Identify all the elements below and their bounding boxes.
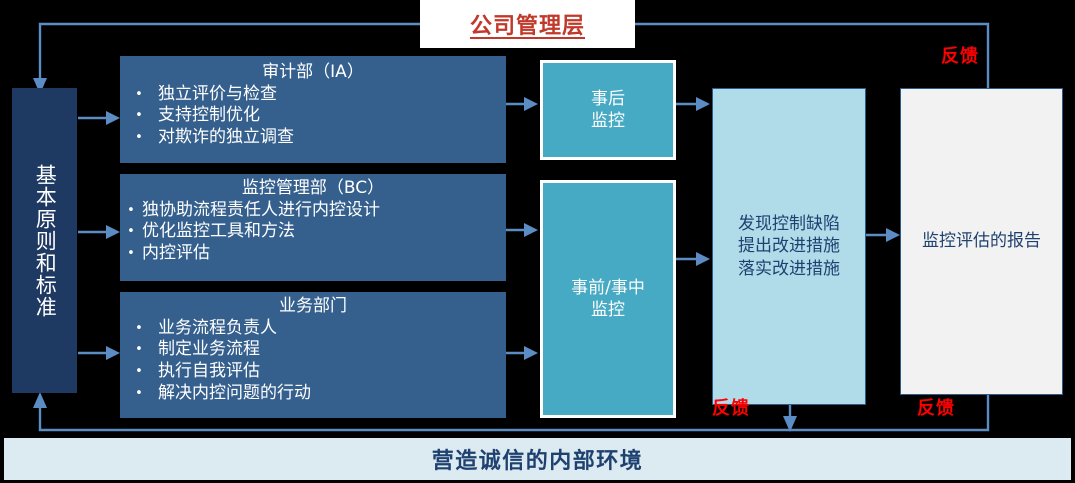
arrowhead-report bbox=[886, 228, 900, 242]
arrowhead-bc bbox=[106, 225, 120, 239]
list-item-label: 对欺诈的独立调查 bbox=[158, 127, 506, 149]
arrowhead-into-principles-bottom bbox=[33, 392, 47, 408]
bullet-icon: • bbox=[120, 342, 158, 359]
arrowhead-biz bbox=[106, 346, 120, 360]
monitoring-label-pre: 事前/事中 监控 bbox=[571, 277, 645, 321]
report-box: 监控评估的报告 bbox=[900, 88, 1063, 395]
list-item-label: 优化监控工具和方法 bbox=[142, 221, 506, 243]
arrowhead-pre-2 bbox=[524, 346, 538, 360]
bullet-icon: • bbox=[120, 386, 158, 403]
title-plate-label: 公司管理层 bbox=[470, 8, 585, 40]
department-list-bc: • 独协助流程责任人进行内控设计 • 优化监控工具和方法 • 内控评估 bbox=[120, 200, 506, 265]
principles-label: 基本原则和标准 bbox=[33, 164, 57, 318]
list-item: • 制定业务流程 bbox=[120, 339, 506, 361]
list-item: • 业务流程负责人 bbox=[120, 318, 506, 340]
bullet-icon: • bbox=[120, 87, 158, 104]
arrowhead-post bbox=[524, 97, 538, 111]
bullet-icon: • bbox=[120, 224, 142, 241]
department-title-ia: 审计部（IA） bbox=[120, 62, 506, 83]
department-box-bc: 监控管理部（BC） • 独协助流程责任人进行内控设计 • 优化监控工具和方法 •… bbox=[120, 174, 506, 281]
list-item: • 解决内控问题的行动 bbox=[120, 383, 506, 405]
bullet-icon: • bbox=[120, 246, 142, 263]
findings-label: 发现控制缺陷 提出改进措施 落实改进措施 bbox=[738, 213, 840, 279]
list-item-label: 制定业务流程 bbox=[158, 339, 506, 361]
findings-box: 发现控制缺陷 提出改进措施 落实改进措施 bbox=[712, 88, 866, 405]
list-item: • 内控评估 bbox=[120, 243, 506, 265]
bullet-icon: • bbox=[120, 108, 158, 125]
department-list-ia: • 独立评价与检查 • 支持控制优化 • 对欺诈的独立调查 bbox=[120, 84, 506, 149]
department-box-business: 业务部门 • 业务流程负责人 • 制定业务流程 • 执行自我评估 • 解决内控问… bbox=[120, 292, 506, 418]
bullet-icon: • bbox=[120, 364, 158, 381]
feedback-label-top-right: 反馈 bbox=[941, 42, 979, 68]
report-label: 监控评估的报告 bbox=[922, 230, 1041, 252]
list-item-label: 解决内控问题的行动 bbox=[158, 383, 506, 405]
list-item-label: 支持控制优化 bbox=[158, 105, 506, 127]
department-box-ia: 审计部（IA） • 独立评价与检查 • 支持控制优化 • 对欺诈的独立调查 bbox=[120, 56, 506, 163]
list-item-label: 独立评价与检查 bbox=[158, 84, 506, 106]
bottom-banner: 营造诚信的内部环境 bbox=[4, 438, 1071, 480]
arrowhead-findings-1 bbox=[696, 97, 710, 111]
list-item-label: 内控评估 bbox=[142, 243, 506, 265]
bullet-icon: • bbox=[120, 321, 158, 338]
title-plate: 公司管理层 bbox=[420, 0, 635, 48]
bottom-banner-label: 营造诚信的内部环境 bbox=[432, 443, 644, 475]
list-item: • 独协助流程责任人进行内控设计 bbox=[120, 200, 506, 222]
list-item: • 优化监控工具和方法 bbox=[120, 221, 506, 243]
list-item-label: 独协助流程责任人进行内控设计 bbox=[142, 200, 506, 222]
arrowhead-pre-1 bbox=[524, 223, 538, 237]
department-title-bc: 监控管理部（BC） bbox=[120, 178, 506, 199]
list-item: • 对欺诈的独立调查 bbox=[120, 127, 506, 149]
arrowhead-findings-2 bbox=[696, 252, 710, 266]
department-title-business: 业务部门 bbox=[120, 296, 506, 317]
list-item: • 执行自我评估 bbox=[120, 361, 506, 383]
diagram-canvas: 公司管理层 基本原则和标准 审计部（IA） • 独立评价与检查 • 支持控制优化… bbox=[0, 0, 1075, 483]
arrowhead-ia bbox=[106, 111, 120, 125]
monitoring-box-post: 事后 监控 bbox=[540, 60, 676, 160]
monitoring-box-pre: 事前/事中 监控 bbox=[540, 180, 676, 418]
principles-box: 基本原则和标准 bbox=[12, 88, 77, 393]
list-item-label: 业务流程负责人 bbox=[158, 318, 506, 340]
list-item: • 独立评价与检查 bbox=[120, 84, 506, 106]
feedback-label-bottom-mid: 反馈 bbox=[712, 394, 750, 420]
bullet-icon: • bbox=[120, 130, 158, 147]
feedback-label-bottom-right: 反馈 bbox=[917, 394, 955, 420]
bullet-icon: • bbox=[120, 203, 142, 220]
department-list-business: • 业务流程负责人 • 制定业务流程 • 执行自我评估 • 解决内控问题的行动 bbox=[120, 318, 506, 405]
list-item: • 支持控制优化 bbox=[120, 105, 506, 127]
list-item-label: 执行自我评估 bbox=[158, 361, 506, 383]
monitoring-label-post: 事后 监控 bbox=[591, 88, 625, 132]
